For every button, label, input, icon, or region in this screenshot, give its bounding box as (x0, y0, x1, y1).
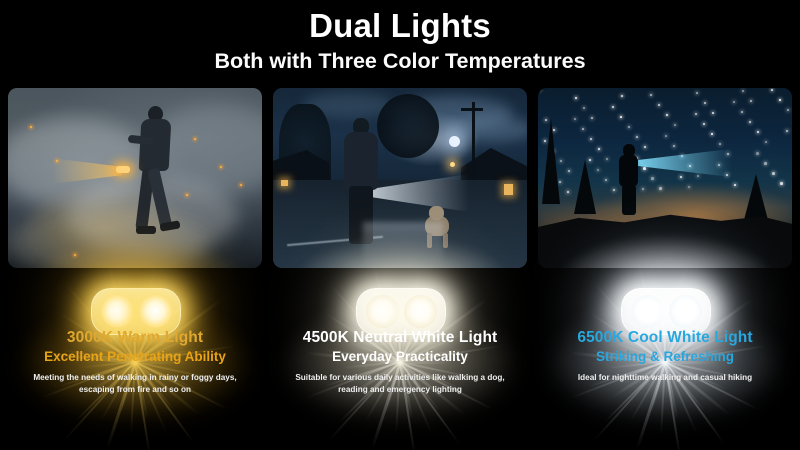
ember-particle (220, 166, 222, 168)
star (787, 109, 789, 111)
lamp-bulb-left (631, 295, 664, 328)
person-torso (139, 119, 172, 171)
caption-subheading: Excellent Penetrating Ability (8, 348, 262, 365)
star (772, 172, 775, 175)
star (590, 138, 592, 140)
feature-panels: 3000K Warm Light Excellent Penetrating A… (0, 88, 800, 408)
street-lamp-light (450, 162, 455, 167)
window-light (504, 184, 513, 195)
ember-particle (56, 160, 58, 162)
caption-subheading: Everyday Practicality (273, 348, 527, 365)
ember-particle (194, 138, 196, 140)
star (568, 170, 570, 172)
star (559, 181, 561, 183)
ember-particle (186, 194, 188, 196)
star (711, 133, 713, 135)
star (553, 129, 555, 131)
caption-heading: 6500K Cool White Light (538, 328, 792, 347)
caption-subheading: Striking & Refreshing (538, 348, 792, 365)
star (765, 141, 767, 143)
scene-photo-neutral (273, 88, 527, 268)
star (643, 167, 646, 170)
person-silhouette (616, 144, 642, 214)
caption-heading: 4500K Neutral White Light (273, 328, 527, 347)
flashlight-beam-cool (636, 146, 732, 180)
star (605, 179, 607, 181)
star (703, 123, 705, 125)
star (544, 140, 546, 142)
star (606, 158, 608, 160)
star (545, 119, 547, 121)
star (695, 113, 697, 115)
ember-particle (30, 126, 32, 128)
person-torso (619, 155, 638, 187)
star (628, 126, 630, 128)
caption-cool: 6500K Cool White Light Striking & Refres… (538, 328, 792, 384)
star (741, 111, 743, 113)
star (666, 114, 668, 116)
star (591, 117, 593, 119)
window-light (281, 180, 288, 186)
page-title: Dual Lights (0, 6, 800, 46)
pine-tree-silhouette (542, 118, 560, 204)
star (786, 130, 788, 132)
star (597, 169, 599, 171)
star (560, 160, 562, 162)
lamp-bulb-right (404, 295, 437, 328)
star (620, 116, 622, 118)
star (575, 97, 577, 99)
feature-panel-warm: 3000K Warm Light Excellent Penetrating A… (8, 88, 262, 408)
person-boot (136, 226, 156, 234)
ember-particle (240, 184, 242, 186)
star (574, 118, 576, 120)
star (697, 175, 699, 177)
star (650, 94, 652, 96)
star (779, 99, 781, 101)
star (538, 88, 541, 91)
utility-pole-arm (461, 108, 483, 111)
caption-neutral: 4500K Neutral White Light Everyday Pract… (273, 328, 527, 395)
star (612, 106, 614, 108)
feature-panel-cool: 6500K Cool White Light Striking & Refres… (538, 88, 792, 408)
star (696, 92, 698, 94)
star (749, 121, 751, 123)
star (636, 136, 638, 138)
scene-photo-cool (538, 88, 792, 268)
star (756, 152, 759, 155)
tree-silhouette (377, 94, 439, 158)
caption-heading: 3000K Warm Light (8, 328, 262, 347)
star (598, 148, 600, 150)
star (589, 159, 591, 161)
star (742, 90, 744, 92)
star (733, 101, 735, 103)
star (644, 146, 646, 148)
star (674, 124, 676, 126)
page-subtitle: Both with Three Color Temperatures (0, 47, 800, 75)
star (665, 135, 667, 137)
star (673, 145, 675, 147)
person-torso (344, 132, 378, 190)
dog-head (429, 206, 444, 220)
caption-body: Suitable for various daily activities li… (273, 372, 527, 395)
caption-body: Ideal for nighttime walking and casual h… (538, 372, 792, 384)
star (757, 131, 759, 133)
lamp-bulb-left (101, 295, 134, 328)
star (583, 107, 585, 109)
star (704, 102, 706, 104)
caption-body: Meeting the needs of walking in rainy or… (8, 372, 262, 395)
star (771, 89, 773, 91)
star (680, 176, 682, 178)
moon-icon (449, 136, 460, 147)
scene-photo-warm (8, 88, 262, 268)
caption-warm: 3000K Warm Light Excellent Penetrating A… (8, 328, 262, 395)
lamp-bulb-right (669, 295, 702, 328)
star (582, 128, 584, 130)
lamp-bulb-right (139, 295, 172, 328)
lamp-bulb-left (366, 295, 399, 328)
banner-header: Dual Lights Both with Three Color Temper… (0, 0, 800, 75)
product-feature-banner: Dual Lights Both with Three Color Temper… (0, 0, 800, 450)
person-legs (622, 185, 636, 215)
feature-panel-neutral: 4500K Neutral White Light Everyday Pract… (273, 88, 527, 408)
star (712, 112, 714, 114)
star (621, 95, 623, 97)
person-silhouette (130, 106, 182, 248)
star (764, 162, 767, 165)
star (719, 143, 721, 145)
flashlight-icon (116, 166, 130, 173)
star (658, 104, 660, 106)
star (750, 100, 752, 102)
star (651, 177, 654, 180)
person-arm (128, 135, 155, 146)
